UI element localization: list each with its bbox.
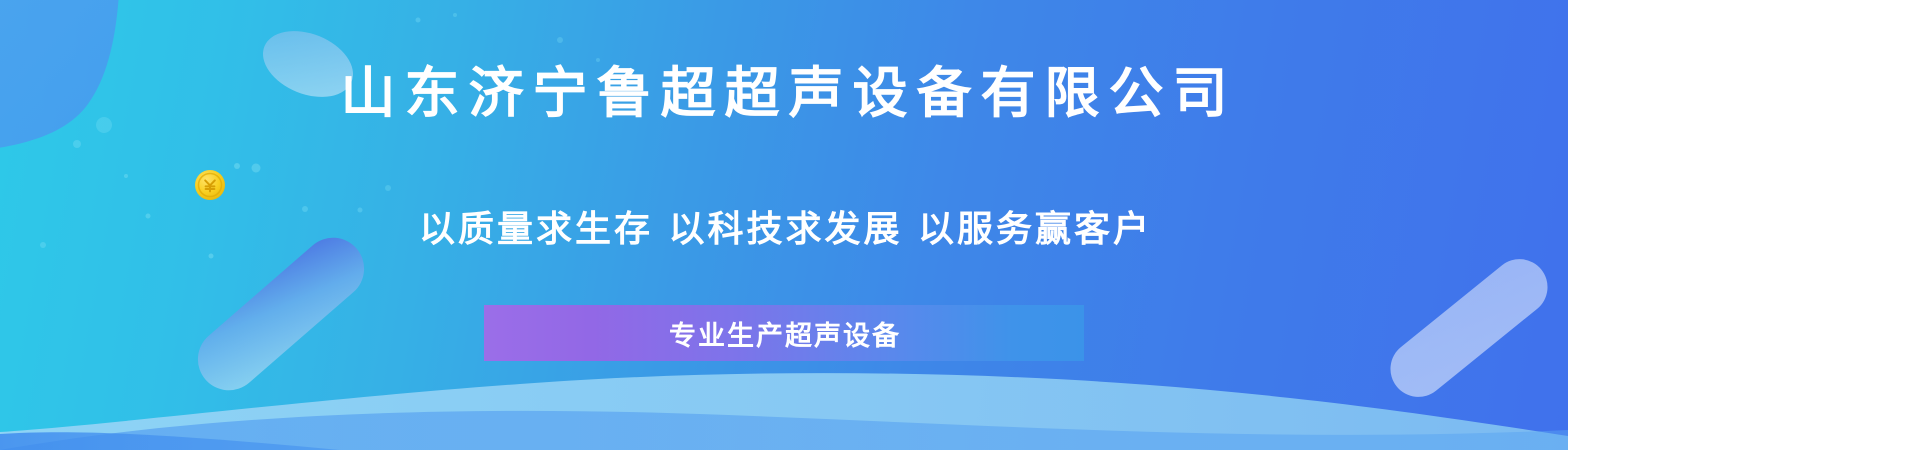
banner-subtitle: 以质量求生存 以科技求发展 以服务赢客户	[0, 208, 1568, 251]
cta-container: 专业生产超声设备	[0, 305, 1568, 361]
page-title: 山东济宁鲁超超声设备有限公司	[0, 62, 1568, 125]
promo-banner: 山东济宁鲁超超声设备有限公司 以质量求生存 以科技求发展 以服务赢客户 专业生产…	[0, 0, 1568, 450]
cta-button-professional-production[interactable]: 专业生产超声设备	[484, 305, 1084, 361]
banner-content: 山东济宁鲁超超声设备有限公司 以质量求生存 以科技求发展 以服务赢客户 专业生产…	[0, 0, 1568, 450]
